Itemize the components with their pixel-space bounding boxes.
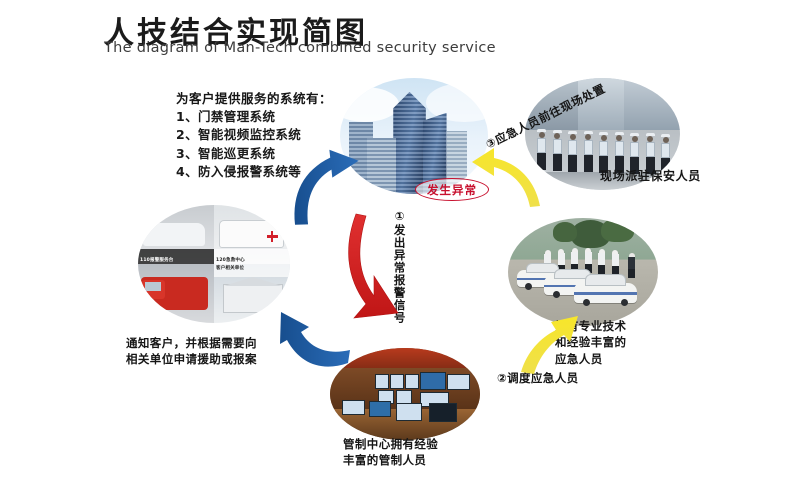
label-notify-client-line-1: 通知客户，并根据需要向 (126, 335, 257, 351)
label-emergency-staff-line-3: 应急人员 (555, 351, 626, 367)
label-emergency-staff-line-2: 和经验丰富的 (555, 334, 626, 350)
rescue-cell-unit: 客户相关单位 (214, 264, 290, 323)
rescue-cell-ambulance-label: 120急救中心 (216, 257, 289, 263)
rescue-cell-police: 110报警服务台 (138, 205, 214, 264)
arrow-red-down (349, 214, 398, 318)
node-control-center-photo (330, 348, 480, 440)
rescue-cell-police-label: 110报警服务台 (140, 257, 213, 263)
rescue-cell-fire (138, 264, 214, 323)
service-item-2: 2、智能视频监控系统 (176, 126, 301, 144)
rescue-cell-ambulance: 120急救中心 (214, 205, 290, 264)
label-notify-client-line-2: 相关单位申请援助或报案 (126, 351, 257, 367)
service-item-1: 1、门禁管理系统 (176, 108, 301, 126)
rescue-cell-unit-label: 客户相关单位 (216, 265, 289, 271)
label-control-center: 管制中心拥有经验丰富的管制人员 (343, 436, 438, 469)
flow-step-2-label: ②调度应急人员 (497, 370, 579, 386)
diagram-canvas: 人技结合实现简图 The diagram of Man-Tech combine… (0, 0, 802, 477)
label-emergency-staff-line-1: 拥有专业技术 (555, 318, 626, 334)
label-control-center-line-2: 丰富的管制人员 (343, 452, 438, 468)
label-emergency-staff: 拥有专业技术和经验丰富的应急人员 (555, 318, 626, 367)
flow-step-1-label: ①发出异常报警信号 (393, 209, 406, 324)
service-item-4: 4、防入侵报警系统等 (176, 163, 301, 181)
service-item-3: 3、智能巡更系统 (176, 145, 301, 163)
node-emergency-vehicles-photo (508, 218, 658, 326)
label-notify-client: 通知客户，并根据需要向相关单位申请援助或报案 (126, 335, 257, 368)
services-list: 1、门禁管理系统 2、智能视频监控系统 3、智能巡更系统 4、防入侵报警系统等 (176, 108, 301, 182)
status-badge-abnormal: 发生异常 (415, 178, 489, 201)
label-control-center-line-1: 管制中心拥有经验 (343, 436, 438, 452)
node-client-building-photo (340, 78, 488, 194)
label-onsite-guards: 现场派驻保安人员 (600, 168, 701, 185)
page-subtitle: The diagram of Man-Tech combined securit… (104, 40, 496, 56)
node-rescue-units-photo: 110报警服务台 120急救中心 客户相关单位 (138, 205, 290, 323)
services-heading: 为客户提供服务的系统有： (176, 90, 332, 108)
